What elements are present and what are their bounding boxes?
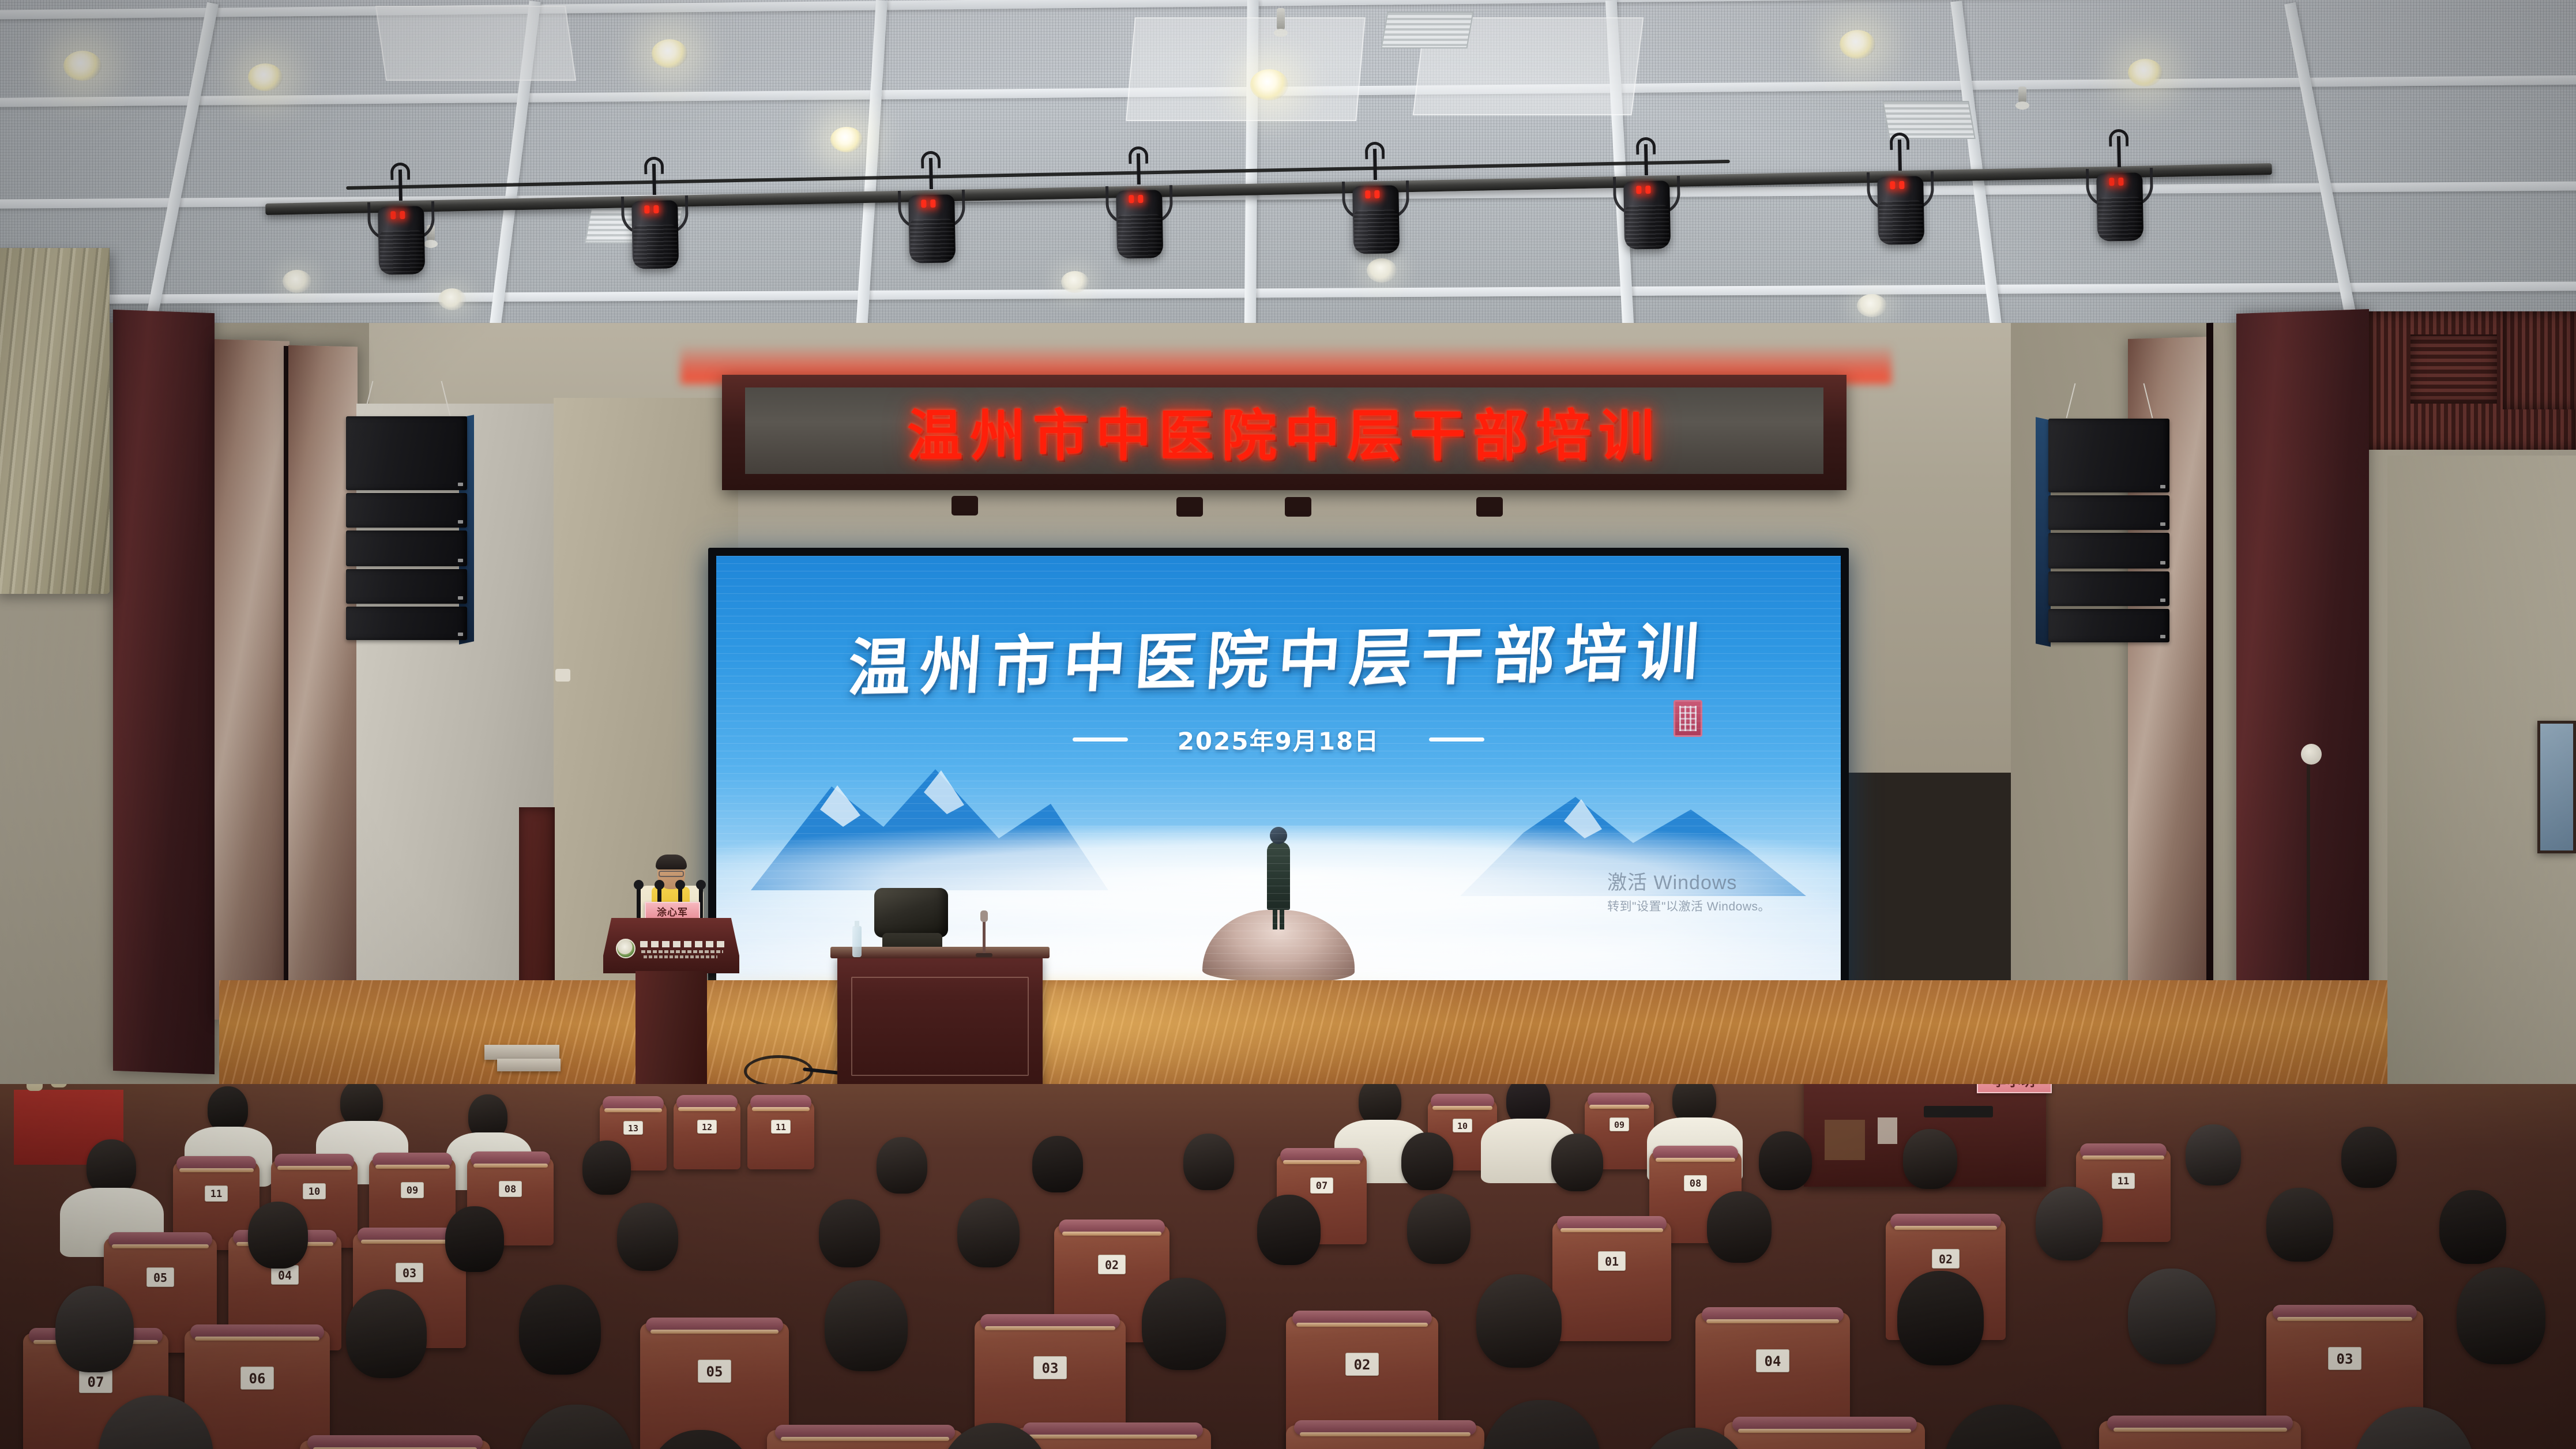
table-row[interactable]: 11	[747, 1100, 814, 1169]
seat-number: 03	[2328, 1347, 2361, 1370]
seat-number: 03	[1033, 1356, 1067, 1379]
seat-number: 07	[1310, 1177, 1333, 1194]
seat-number: 10	[303, 1183, 326, 1199]
audience-head	[1257, 1195, 1321, 1265]
stage-step	[484, 1045, 559, 1060]
audience-head	[340, 1084, 383, 1127]
spotlight-led-indicator	[2109, 178, 2114, 186]
seat-number: 02	[1932, 1249, 1960, 1269]
spotlight-led-indicator	[1645, 186, 1650, 194]
audience-head	[248, 1202, 308, 1269]
stage-spotlight	[905, 184, 959, 266]
spotlight-led-indicator	[1138, 195, 1143, 203]
wall-pillar	[2236, 309, 2369, 1098]
stage-spotlight	[628, 190, 682, 272]
ceiling-downlight	[652, 39, 687, 68]
ceiling-sprinkler	[1277, 8, 1285, 31]
podium-nameplate: 涂心军	[645, 902, 700, 920]
speaker-module	[346, 530, 467, 566]
ceiling-vent	[1381, 12, 1473, 48]
podium-org-text-cn	[640, 941, 727, 947]
floor-cable-coil	[744, 1055, 813, 1087]
table-microphone	[983, 918, 986, 955]
ceiling-downlight	[438, 288, 466, 310]
seat-number: 12	[697, 1120, 717, 1134]
stage-spotlight	[1874, 165, 1928, 247]
watermark-line-2: 转到"设置"以激活 Windows。	[1607, 897, 1770, 914]
audience-head	[2341, 1127, 2397, 1188]
table-row[interactable]: 12	[674, 1100, 740, 1169]
audience-head	[2128, 1269, 2216, 1364]
spotlight-led-indicator	[1890, 181, 1895, 189]
table-row[interactable]: 05	[767, 1430, 963, 1449]
desk-slot	[1924, 1106, 1993, 1117]
speaker-podium: 涂心军	[603, 918, 739, 1091]
decor-rule-right	[1429, 737, 1484, 742]
seat-number: 02	[1345, 1353, 1379, 1376]
audience-head	[2036, 1187, 2103, 1260]
stage-step	[497, 1059, 561, 1071]
speaker-module	[346, 493, 467, 528]
speaker-module	[2048, 495, 2169, 530]
seat-number: 03	[396, 1263, 423, 1282]
screen-title: 温州市中医院中层干部培训	[716, 599, 1841, 710]
ceiling-downlight	[1250, 69, 1288, 100]
podium-column	[635, 971, 707, 1091]
stage-spotlight	[1620, 170, 1674, 252]
auditorium-scene: 温州市中医院中层干部培训	[0, 0, 2576, 1449]
spotlight-yoke	[398, 170, 403, 201]
audience-head	[957, 1198, 1020, 1267]
stage-spotlight	[1349, 175, 1403, 257]
spotlight-led-indicator	[1365, 190, 1370, 198]
stage-spotlight	[2093, 162, 2147, 244]
audience-seating-area: 李小玥 13 12 11 10 09	[0, 1084, 2576, 1449]
ceiling-access-panel	[1126, 17, 1366, 121]
control-desk-nameplate: 李小玥	[1977, 1084, 2052, 1093]
audience-head	[1476, 1274, 1562, 1368]
stage-table	[837, 955, 1043, 1093]
spotlight-led-indicator	[930, 200, 935, 208]
ceiling-downlight	[830, 127, 863, 152]
audience-head	[519, 1405, 634, 1449]
banner-downlight	[1476, 497, 1503, 517]
banner-downlight	[952, 496, 978, 515]
acoustic-louvre-panel	[2503, 311, 2576, 409]
spotlight-led-indicator	[653, 205, 659, 213]
ceiling-downlight	[248, 63, 283, 91]
seat-number: 01	[1598, 1251, 1626, 1271]
audience-head	[1142, 1278, 1226, 1370]
audience-head	[55, 1286, 134, 1372]
acoustic-louvre-panel	[2410, 334, 2497, 404]
audience-head	[87, 1139, 136, 1195]
seat-number: 06	[240, 1367, 274, 1390]
wall-speaker-sphere	[2301, 744, 2322, 765]
spotlight-led-indicator	[1374, 190, 1379, 198]
wall-speaker-horn	[555, 669, 570, 682]
audience-head	[1401, 1132, 1453, 1190]
speaker-module	[346, 569, 467, 604]
desk-card	[1878, 1117, 1897, 1144]
podium-org-text-en	[641, 950, 723, 953]
table-top-edge	[830, 947, 1050, 958]
seat-number: 08	[1684, 1175, 1707, 1191]
ceiling-sprinkler	[2018, 86, 2026, 104]
chair-backrest	[874, 888, 948, 938]
hospital-emblem-icon	[616, 939, 635, 958]
spotlight-led-indicator	[921, 200, 926, 208]
banner-downlight	[1176, 497, 1203, 517]
pillar-reveal	[2206, 323, 2213, 1072]
audience-head	[1482, 1400, 1601, 1449]
screen-date-row: 2025年9月18日	[716, 722, 1841, 757]
ceiling-downlight	[283, 270, 311, 293]
seat-number: 08	[499, 1181, 522, 1197]
table-row[interactable]: 01	[1552, 1221, 1671, 1341]
windows-activation-watermark: 激活 Windows 转到"设置"以激活 Windows。	[1607, 867, 1770, 914]
climber-silhouette	[1267, 842, 1290, 910]
seat-number: 11	[771, 1120, 791, 1134]
audience-head	[877, 1137, 927, 1194]
speaker-module	[2048, 571, 2169, 606]
glasses-icon	[659, 871, 684, 877]
right-speaker-array	[2048, 419, 2169, 645]
seat-number: 09	[401, 1182, 424, 1198]
framed-picture	[2537, 721, 2576, 853]
audience-head	[445, 1206, 504, 1272]
spotlight-led-indicator	[1129, 195, 1134, 203]
seat-number: 05	[146, 1267, 174, 1287]
audience-head	[2439, 1190, 2506, 1264]
speaker-module	[346, 416, 467, 490]
seat-number: 10	[1453, 1119, 1472, 1132]
seat-number: 02	[1098, 1255, 1126, 1274]
speaker-module	[2048, 419, 2169, 492]
audience-head	[2266, 1188, 2333, 1262]
audience-head	[1551, 1134, 1603, 1191]
seat-number: 07	[79, 1370, 112, 1393]
audience-head	[1407, 1194, 1471, 1264]
audience-head	[617, 1203, 678, 1271]
desk-panel	[1825, 1120, 1865, 1160]
table-front-panel-inset	[851, 977, 1029, 1076]
spotlight-led-indicator	[400, 211, 405, 219]
audience-head	[1759, 1131, 1812, 1190]
banner-downlight	[1285, 497, 1311, 517]
left-speaker-array	[346, 416, 467, 643]
tea-cup	[51, 1084, 67, 1087]
ceiling-downlight	[1367, 258, 1397, 283]
audience-head	[1183, 1134, 1234, 1190]
audience-head	[2186, 1124, 2241, 1185]
presenter-hair	[656, 855, 687, 870]
audience-head	[519, 1285, 601, 1375]
spotlight-led-indicator	[1636, 186, 1641, 194]
audience-head	[1032, 1136, 1083, 1192]
wall-pillar	[113, 310, 215, 1074]
screen-date: 2025年9月18日	[1178, 722, 1380, 757]
wall-pillar	[215, 339, 289, 1021]
watermark-line-1: 激活 Windows	[1607, 867, 1770, 895]
audience-head	[1943, 1405, 2064, 1449]
audience-head	[1897, 1271, 1984, 1365]
tea-cup	[27, 1084, 43, 1091]
ceiling-downlight	[2128, 59, 2163, 86]
table-row[interactable]: 02	[2099, 1421, 2301, 1449]
seat-number: 11	[205, 1185, 228, 1202]
speaker-module	[2048, 609, 2169, 642]
audience-head	[2457, 1267, 2545, 1364]
water-bottle	[852, 926, 862, 957]
speaker-module	[346, 607, 467, 640]
spotlight-led-indicator	[390, 211, 396, 219]
ceiling-downlight	[1061, 271, 1089, 293]
table-row[interactable]: 07	[300, 1440, 490, 1449]
seat-number: 11	[2112, 1173, 2135, 1189]
audience-head	[582, 1141, 631, 1195]
podium-org-text-en2	[644, 955, 717, 958]
seat-number: 13	[623, 1121, 643, 1135]
led-banner-text: 温州市中医院中层干部培训	[907, 391, 1661, 471]
ceiling-downlight	[1857, 294, 1887, 317]
audience-head	[346, 1289, 427, 1378]
table-row[interactable]: 01	[1286, 1425, 1484, 1449]
led-banner: 温州市中医院中层干部培训	[745, 387, 1823, 474]
seat-number: 04	[1756, 1349, 1789, 1372]
podium-top	[603, 918, 739, 973]
seat-number: 09	[1609, 1117, 1629, 1131]
stage-spotlight	[374, 195, 428, 277]
stage-spotlight	[1112, 179, 1167, 261]
spotlight-ridges	[379, 230, 424, 272]
audience-head	[819, 1199, 880, 1267]
audience-head	[1903, 1129, 1957, 1189]
table-row[interactable]: 05	[640, 1323, 789, 1449]
ceiling-downlight	[1840, 30, 1875, 59]
spotlight-led-indicator	[2118, 178, 2123, 186]
seat-number: 05	[698, 1360, 731, 1383]
spotlight-led-indicator	[644, 205, 649, 213]
ceiling-downlight	[63, 51, 101, 81]
speaker-module	[2048, 533, 2169, 569]
table-row[interactable]: 03	[1015, 1428, 1211, 1449]
decor-rule-left	[1073, 737, 1128, 742]
window-curtain	[0, 248, 110, 594]
spotlight-led-indicator	[1899, 181, 1904, 189]
table-row[interactable]: 04	[1724, 1422, 1925, 1449]
ceiling-access-panel	[375, 6, 576, 81]
audience-head	[1707, 1191, 1772, 1263]
audience-head	[825, 1280, 908, 1371]
audience-head	[208, 1086, 248, 1132]
